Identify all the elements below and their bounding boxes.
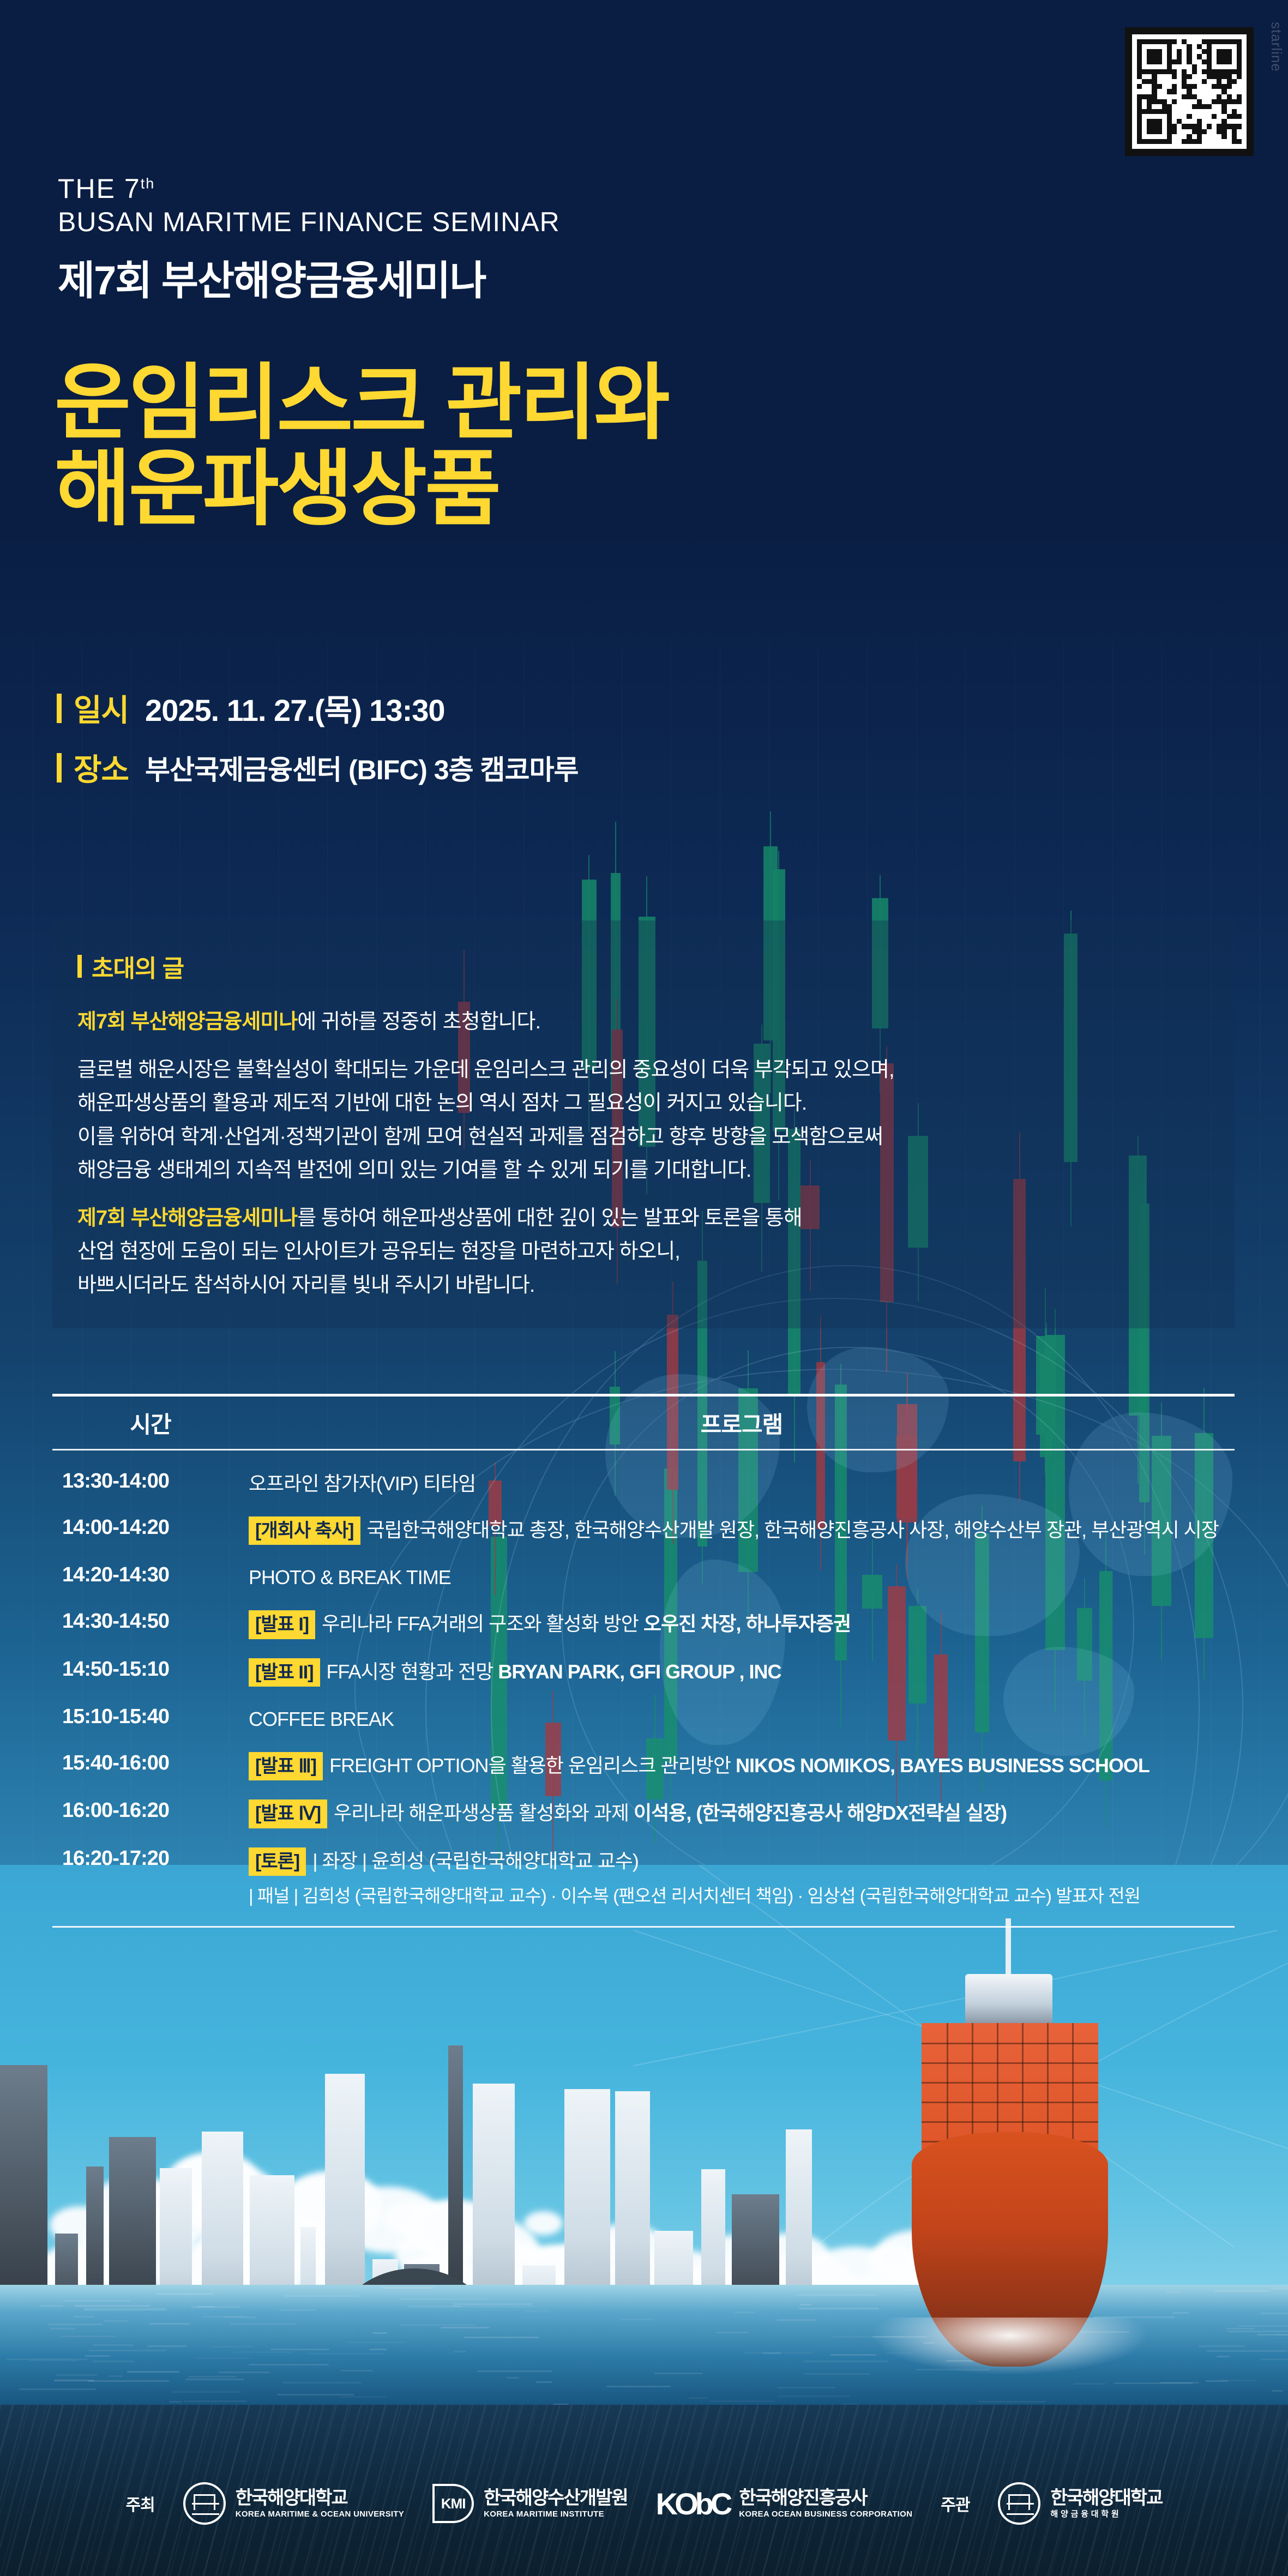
- qr-module: [1197, 134, 1202, 139]
- qr-module: [1227, 59, 1232, 64]
- qr-module: [1202, 54, 1207, 59]
- qr-module: [1197, 44, 1202, 49]
- yellow-bar-icon: [77, 955, 82, 978]
- qr-module: [1221, 119, 1226, 124]
- qr-module: [1172, 89, 1177, 94]
- qr-module: [1182, 54, 1187, 59]
- qr-module: [1172, 109, 1177, 114]
- qr-module: [1157, 109, 1162, 114]
- qr-module: [1232, 109, 1237, 114]
- session-tag: [토론]: [249, 1847, 306, 1876]
- qr-module: [1192, 64, 1197, 69]
- qr-module: [1187, 134, 1191, 139]
- qr-module: [1172, 44, 1177, 49]
- logo-name-ko: 한국해양대학교: [236, 2488, 404, 2508]
- qr-module: [1142, 119, 1147, 124]
- qr-module: [1212, 59, 1217, 64]
- qr-module: [1177, 49, 1182, 54]
- footer-logos: 주최한국해양대학교KOREA MARITIME & OCEAN UNIVERSI…: [0, 2482, 1288, 2525]
- qr-module: [1217, 79, 1221, 84]
- paragraph-gap: [77, 1188, 1209, 1202]
- qr-module: [1162, 99, 1167, 104]
- qr-module: [1237, 79, 1242, 84]
- qr-module: [1192, 129, 1197, 134]
- qr-module: [1142, 104, 1147, 109]
- qr-module: [1237, 124, 1242, 129]
- qr-module: [1197, 54, 1202, 59]
- qr-module: [1152, 79, 1157, 84]
- qr-module: [1177, 114, 1182, 119]
- qr-module: [1187, 99, 1191, 104]
- session-tag: [발표 I]: [249, 1610, 315, 1639]
- qr-module: [1197, 99, 1202, 104]
- row-speaker: 오우진 차장, 하나투자증권: [639, 1612, 851, 1635]
- qr-module: [1167, 134, 1172, 139]
- qr-module: [1157, 69, 1162, 74]
- qr-module: [1167, 129, 1172, 134]
- qr-module: [1212, 89, 1217, 94]
- qr-module: [1207, 39, 1212, 44]
- qr-module: [1147, 114, 1152, 119]
- qr-module: [1227, 64, 1232, 69]
- qr-module: [1162, 109, 1167, 114]
- qr-module: [1187, 59, 1191, 64]
- qr-module: [1221, 64, 1226, 69]
- qr-module: [1147, 119, 1152, 124]
- qr-module: [1172, 99, 1177, 104]
- qr-module: [1237, 59, 1242, 64]
- qr-module: [1152, 84, 1157, 89]
- qr-module: [1162, 79, 1167, 84]
- logo-name-ko: 한국해양진흥공사: [739, 2488, 912, 2508]
- qr-module: [1237, 129, 1242, 134]
- qr-module: [1187, 109, 1191, 114]
- qr-module: [1152, 139, 1157, 144]
- qr-module: [1217, 69, 1221, 74]
- qr-module: [1137, 79, 1142, 84]
- qr-module: [1142, 49, 1147, 54]
- qr-module: [1217, 49, 1221, 54]
- qr-module: [1192, 59, 1197, 64]
- qr-module: [1142, 109, 1147, 114]
- qr-module: [1221, 139, 1226, 144]
- qr-module: [1192, 134, 1197, 139]
- kobc-logo-icon: KObC: [656, 2486, 730, 2521]
- qr-module: [1147, 64, 1152, 69]
- qr-module: [1177, 39, 1182, 44]
- qr-module: [1207, 84, 1212, 89]
- qr-module: [1237, 44, 1242, 49]
- qr-module: [1207, 49, 1212, 54]
- qr-module: [1167, 49, 1172, 54]
- qr-module: [1147, 84, 1152, 89]
- qr-module: [1137, 109, 1142, 114]
- qr-module: [1157, 59, 1162, 64]
- footer-logo: KObC한국해양진흥공사KOREA OCEAN BUSINESS CORPORA…: [656, 2486, 913, 2521]
- qr-module: [1221, 94, 1226, 99]
- main-title-line2: 해운파생상품: [55, 446, 668, 532]
- qr-module: [1187, 94, 1191, 99]
- qr-module: [1207, 119, 1212, 124]
- invitation-line: 해양금융 생태계의 지속적 발전에 의미 있는 기여를 할 수 있게 되기를 기…: [77, 1154, 1209, 1188]
- qr-module: [1232, 44, 1237, 49]
- qr-module: [1192, 104, 1197, 109]
- qr-module: [1227, 104, 1232, 109]
- qr-module: [1167, 44, 1172, 49]
- qr-module: [1162, 59, 1167, 64]
- qr-module: [1147, 89, 1152, 94]
- qr-module: [1221, 74, 1226, 79]
- qr-module: [1202, 129, 1207, 134]
- qr-module: [1212, 139, 1217, 144]
- qr-module: [1142, 59, 1147, 64]
- qr-module: [1221, 134, 1226, 139]
- qr-module: [1192, 114, 1197, 119]
- row-program: COFFEE BREAK: [249, 1705, 1235, 1733]
- qr-module: [1227, 139, 1232, 144]
- table-row: 16:20-17:20[토론]| 좌장 | 윤희성 (국립한국해양대학교 교수)…: [52, 1838, 1235, 1918]
- qr-module: [1142, 89, 1147, 94]
- qr-module: [1221, 89, 1226, 94]
- qr-module: [1182, 74, 1187, 79]
- qr-module: [1202, 49, 1207, 54]
- qr-module: [1167, 119, 1172, 124]
- qr-module: [1167, 74, 1172, 79]
- table-row: 14:20-14:30PHOTO & BREAK TIME: [52, 1554, 1235, 1600]
- qr-module: [1167, 114, 1172, 119]
- qr-module: [1187, 84, 1191, 89]
- qr-module: [1221, 69, 1226, 74]
- qr-module: [1147, 44, 1152, 49]
- qr-module: [1137, 84, 1142, 89]
- qr-module: [1182, 124, 1187, 129]
- qr-module: [1207, 59, 1212, 64]
- qr-module: [1182, 119, 1187, 124]
- qr-module: [1187, 74, 1191, 79]
- qr-module: [1167, 59, 1172, 64]
- qr-module: [1217, 44, 1221, 49]
- qr-module: [1157, 104, 1162, 109]
- invitation-line: 바쁘시더라도 참석하시어 자리를 빛내 주시기 바랍니다.: [77, 1269, 1209, 1303]
- qr-module: [1207, 134, 1212, 139]
- qr-module: [1217, 114, 1221, 119]
- qr-module: [1177, 79, 1182, 84]
- qr-module: [1157, 54, 1162, 59]
- row-time: 13:30-14:00: [52, 1470, 249, 1493]
- qr-module: [1187, 49, 1191, 54]
- qr-module: [1202, 84, 1207, 89]
- qr-module: [1157, 89, 1162, 94]
- qr-module: [1152, 94, 1157, 99]
- qr-module: [1217, 39, 1221, 44]
- qr-module: [1212, 84, 1217, 89]
- qr-module: [1237, 114, 1242, 119]
- qr-module: [1217, 84, 1221, 89]
- qr-module: [1212, 124, 1217, 129]
- qr-module: [1221, 99, 1226, 104]
- qr-module: [1162, 129, 1167, 134]
- invitation-line: 제7회 부산해양금융세미나를 통하여 해운파생상품에 대한 깊이 있는 발표와 …: [77, 1202, 1209, 1236]
- qr-module: [1202, 114, 1207, 119]
- qr-module: [1197, 104, 1202, 109]
- qr-module: [1197, 119, 1202, 124]
- qr-module: [1212, 129, 1217, 134]
- qr-module: [1232, 129, 1237, 134]
- qr-module: [1217, 104, 1221, 109]
- qr-module: [1167, 99, 1172, 104]
- qr-module: [1192, 69, 1197, 74]
- qr-module: [1197, 59, 1202, 64]
- qr-module: [1237, 54, 1242, 59]
- logo-name-ko: 한국해양수산개발원: [484, 2488, 628, 2508]
- qr-module: [1192, 39, 1197, 44]
- invitation-panel: 초대의 글 제7회 부산해양금융세미나에 귀하를 정중히 초청합니다.글로벌 해…: [52, 920, 1235, 1328]
- qr-module: [1152, 64, 1157, 69]
- qr-module: [1157, 84, 1162, 89]
- qr-module: [1237, 74, 1242, 79]
- qr-module: [1137, 99, 1142, 104]
- qr-module: [1227, 44, 1232, 49]
- qr-module: [1202, 89, 1207, 94]
- qr-module: [1152, 39, 1157, 44]
- qr-module: [1137, 139, 1142, 144]
- qr-module: [1147, 94, 1152, 99]
- qr-module: [1217, 74, 1221, 79]
- university-emblem-icon: [998, 2482, 1040, 2525]
- table-row: 15:40-16:00[발표 Ⅲ]FREIGHT OPTION을 활용한 운임리…: [52, 1742, 1235, 1790]
- qr-module: [1137, 74, 1142, 79]
- qr-module: [1227, 94, 1232, 99]
- table-row: 15:10-15:40COFFEE BREAK: [52, 1696, 1235, 1742]
- date-label: 일시: [74, 686, 129, 730]
- qr-module: [1162, 64, 1167, 69]
- qr-module: [1192, 99, 1197, 104]
- qr-module: [1162, 139, 1167, 144]
- qr-module: [1232, 59, 1237, 64]
- qr-module: [1187, 139, 1191, 144]
- qr-module: [1167, 89, 1172, 94]
- qr-module: [1162, 94, 1167, 99]
- column-header-time: 시간: [130, 1412, 171, 1437]
- qr-module: [1207, 64, 1212, 69]
- qr-module: [1172, 129, 1177, 134]
- qr-module: [1137, 64, 1142, 69]
- qr-module: [1232, 54, 1237, 59]
- invitation-line: 해운파생상품의 활용과 제도적 기반에 대한 논의 역시 점차 그 필요성이 커…: [77, 1087, 1209, 1121]
- university-emblem-icon: [183, 2482, 226, 2525]
- qr-module: [1237, 64, 1242, 69]
- qr-module: [1237, 139, 1242, 144]
- qr-module: [1182, 49, 1187, 54]
- qr-module: [1147, 129, 1152, 134]
- qr-module: [1142, 79, 1147, 84]
- qr-module: [1142, 94, 1147, 99]
- qr-module: [1167, 94, 1172, 99]
- qr-module: [1237, 119, 1242, 124]
- qr-module: [1177, 124, 1182, 129]
- qr-module: [1152, 114, 1157, 119]
- qr-module: [1187, 54, 1191, 59]
- logo-name-ko: 한국해양대학교: [1050, 2488, 1162, 2508]
- qr-module: [1212, 69, 1217, 74]
- footer-logo: KMI한국해양수산개발원KOREA MARITIME INSTITUTE: [432, 2484, 628, 2523]
- qr-module: [1172, 54, 1177, 59]
- qr-module: [1217, 64, 1221, 69]
- qr-module: [1142, 54, 1147, 59]
- qr-module: [1152, 124, 1157, 129]
- qr-module: [1197, 94, 1202, 99]
- column-header-program: 프로그램: [701, 1412, 783, 1437]
- qr-module: [1212, 64, 1217, 69]
- qr-module: [1172, 59, 1177, 64]
- invitation-title: 초대의 글: [92, 949, 184, 984]
- yellow-bar-icon: [57, 694, 62, 723]
- qr-module: [1177, 129, 1182, 134]
- qr-module: [1182, 104, 1187, 109]
- qr-module: [1142, 124, 1147, 129]
- qr-module: [1162, 124, 1167, 129]
- qr-module: [1142, 39, 1147, 44]
- row-time: 14:30-14:50: [52, 1610, 249, 1633]
- starline-watermark: starline: [1268, 22, 1285, 72]
- qr-module: [1137, 114, 1142, 119]
- qr-module: [1162, 114, 1167, 119]
- qr-module: [1232, 104, 1237, 109]
- qr-module: [1137, 89, 1142, 94]
- qr-module: [1197, 84, 1202, 89]
- qr-module: [1197, 74, 1202, 79]
- qr-module: [1217, 109, 1221, 114]
- qr-module: [1202, 109, 1207, 114]
- qr-module: [1147, 74, 1152, 79]
- qr-module: [1152, 69, 1157, 74]
- table-bottom-rule: [52, 1926, 1235, 1928]
- qr-module: [1172, 69, 1177, 74]
- qr-module: [1142, 134, 1147, 139]
- qr-module: [1177, 64, 1182, 69]
- session-tag: [발표 II]: [249, 1658, 320, 1687]
- qr-module: [1167, 139, 1172, 144]
- qr-module: [1237, 134, 1242, 139]
- qr-module: [1167, 109, 1172, 114]
- qr-module: [1197, 79, 1202, 84]
- program-table: 시간 프로그램 13:30-14:00오프라인 참가자(VIP) 티타임14:0…: [52, 1394, 1235, 1928]
- row-time: 14:00-14:20: [52, 1516, 249, 1539]
- qr-module: [1172, 124, 1177, 129]
- qr-module: [1187, 104, 1191, 109]
- qr-module: [1227, 54, 1232, 59]
- qr-module: [1187, 39, 1191, 44]
- qr-code-matrix: [1137, 39, 1242, 144]
- qr-module: [1207, 44, 1212, 49]
- qr-module: [1217, 119, 1221, 124]
- qr-module: [1137, 59, 1142, 64]
- korean-subtitle: 제7회 부산해양금융세미나: [58, 248, 486, 306]
- qr-module: [1212, 79, 1217, 84]
- qr-module: [1152, 119, 1157, 124]
- qr-module: [1157, 79, 1162, 84]
- qr-module: [1142, 84, 1147, 89]
- qr-module: [1177, 94, 1182, 99]
- qr-module: [1137, 54, 1142, 59]
- footer-logo: 한국해양대학교해 양 금 융 대 학 원: [998, 2482, 1162, 2525]
- logo-text: 한국해양대학교KOREA MARITIME & OCEAN UNIVERSITY: [236, 2488, 404, 2519]
- eyebrow-line2: BUSAN MARITME FINANCE SEMINAR: [58, 206, 560, 239]
- qr-module: [1212, 44, 1217, 49]
- qr-module: [1152, 54, 1157, 59]
- qr-module: [1192, 84, 1197, 89]
- qr-module: [1182, 99, 1187, 104]
- qr-module: [1157, 64, 1162, 69]
- qr-module: [1147, 59, 1152, 64]
- qr-module: [1142, 74, 1147, 79]
- qr-module: [1192, 89, 1197, 94]
- qr-module: [1162, 44, 1167, 49]
- qr-module: [1221, 109, 1226, 114]
- qr-module: [1137, 39, 1142, 44]
- qr-module: [1221, 79, 1226, 84]
- qr-module: [1142, 69, 1147, 74]
- qr-module: [1221, 49, 1226, 54]
- table-row: 14:50-15:10[발표 II]FFA시장 현황과 전망 BRYAN PAR…: [52, 1648, 1235, 1696]
- qr-module: [1162, 54, 1167, 59]
- ordinal-suffix: th: [141, 175, 155, 191]
- qr-module: [1227, 114, 1232, 119]
- qr-module: [1197, 69, 1202, 74]
- qr-module: [1172, 114, 1177, 119]
- qr-module: [1202, 124, 1207, 129]
- qr-module: [1167, 104, 1172, 109]
- qr-module: [1232, 94, 1237, 99]
- qr-module: [1217, 124, 1221, 129]
- qr-module: [1207, 104, 1212, 109]
- qr-module: [1202, 99, 1207, 104]
- qr-module: [1177, 54, 1182, 59]
- qr-module: [1212, 39, 1217, 44]
- qr-module: [1202, 134, 1207, 139]
- qr-module: [1192, 139, 1197, 144]
- qr-module: [1152, 99, 1157, 104]
- qr-module: [1227, 69, 1232, 74]
- invitation-line: 글로벌 해운시장은 불확실성이 확대되는 가운데 운임리스크 관리의 중요성이 …: [77, 1054, 1209, 1087]
- qr-module: [1227, 124, 1232, 129]
- qr-module: [1147, 99, 1152, 104]
- qr-module: [1147, 134, 1152, 139]
- qr-module: [1207, 139, 1212, 144]
- paragraph-gap: [77, 1039, 1209, 1054]
- qr-module: [1237, 89, 1242, 94]
- qr-module: [1217, 89, 1221, 94]
- qr-module: [1152, 134, 1157, 139]
- qr-module: [1202, 64, 1207, 69]
- qr-module: [1187, 64, 1191, 69]
- logo-name-en: 해 양 금 융 대 학 원: [1050, 2510, 1162, 2519]
- logo-text: 한국해양수산개발원KOREA MARITIME INSTITUTE: [484, 2488, 628, 2519]
- qr-module: [1207, 99, 1212, 104]
- qr-module: [1142, 99, 1147, 104]
- qr-module: [1157, 74, 1162, 79]
- qr-module: [1212, 119, 1217, 124]
- qr-code[interactable]: [1125, 27, 1254, 156]
- qr-module: [1227, 79, 1232, 84]
- logo-text: 한국해양진흥공사KOREA OCEAN BUSINESS CORPORATION: [739, 2488, 912, 2519]
- qr-module: [1187, 89, 1191, 94]
- table-row: 14:00-14:20[개회사 축사]국립한국해양대학교 총장, 한국해양수산개…: [52, 1507, 1235, 1554]
- qr-module: [1221, 59, 1226, 64]
- qr-module: [1182, 139, 1187, 144]
- qr-module: [1187, 119, 1191, 124]
- qr-module: [1232, 114, 1237, 119]
